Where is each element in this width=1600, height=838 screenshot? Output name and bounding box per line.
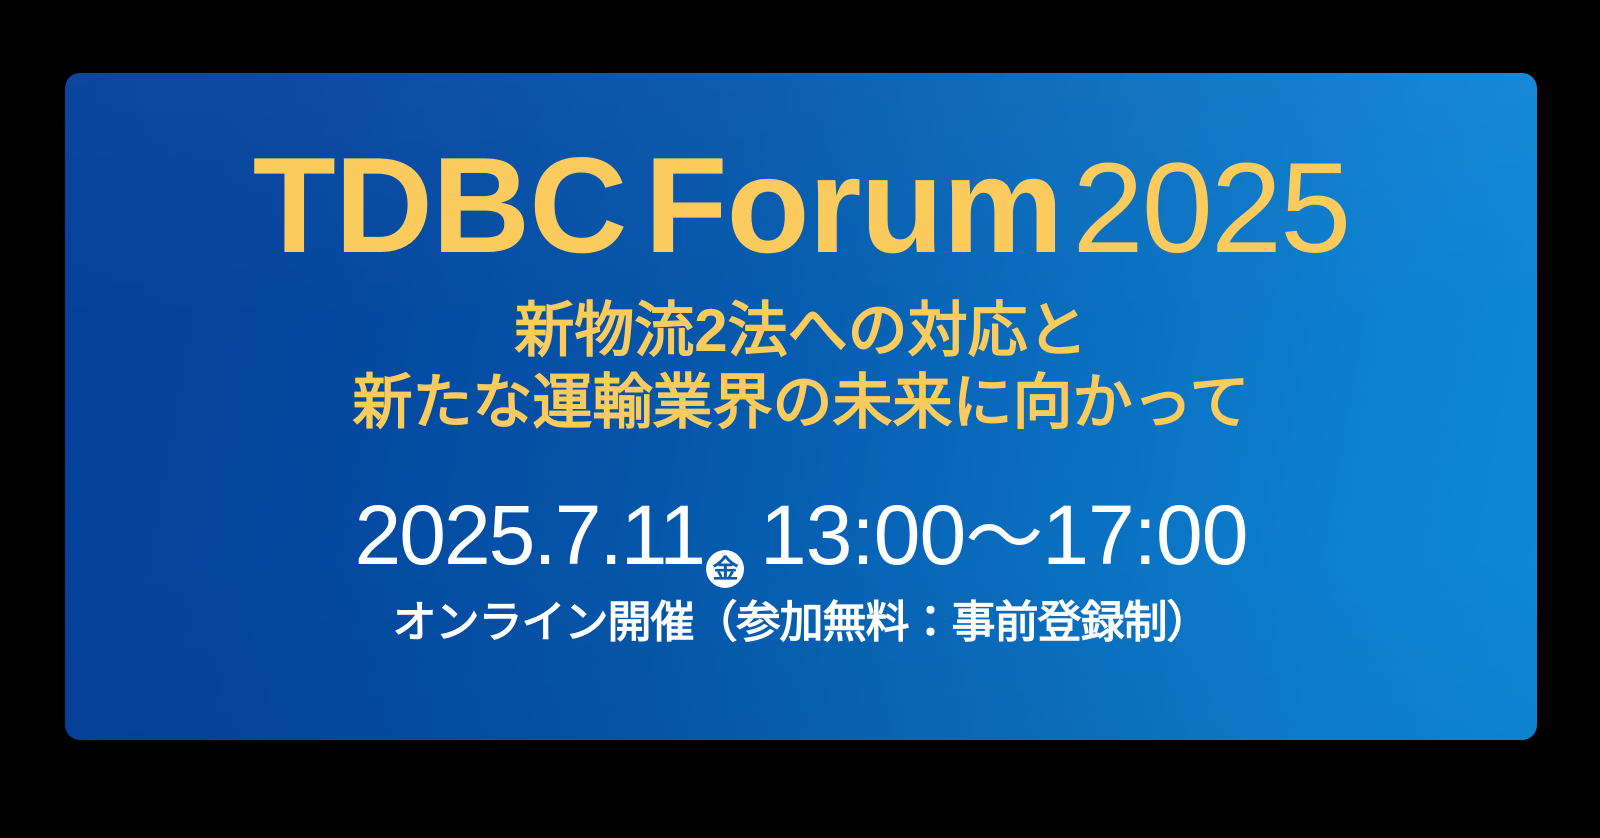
title-brand-tdbc: TDBC (253, 129, 627, 281)
banner-panel-content: TDBCForum2025 新物流2法への対応と 新たな運輸業界の未来に向かって… (65, 73, 1537, 740)
event-banner: TDBCForum2025 新物流2法への対応と 新たな運輸業界の未来に向かって… (0, 0, 1600, 838)
weekday-badge-friday: 金 (706, 550, 744, 588)
event-format-note: オンライン開催（参加無料：事前登録制） (65, 601, 1537, 645)
event-time-end: 17:00 (1042, 488, 1247, 582)
banner-headline: 新物流2法への対応と 新たな運輸業界の未来に向かって (65, 295, 1537, 439)
banner-datetime: 2025.7.11金13:00～17:00 (65, 493, 1537, 577)
event-time-start: 13:00 (760, 488, 965, 582)
title-year: 2025 (1073, 137, 1350, 280)
banner-panel: TDBCForum2025 新物流2法への対応と 新たな運輸業界の未来に向かって… (65, 73, 1537, 740)
banner-title: TDBCForum2025 (65, 137, 1537, 273)
event-date: 2025.7.11 (355, 488, 704, 582)
headline-line-1: 新物流2法への対応と (65, 295, 1537, 367)
time-range-separator-icon: ～ (965, 493, 1042, 581)
headline-line-2: 新たな運輸業界の未来に向かって (65, 367, 1537, 439)
title-brand-forum: Forum (644, 129, 1062, 281)
